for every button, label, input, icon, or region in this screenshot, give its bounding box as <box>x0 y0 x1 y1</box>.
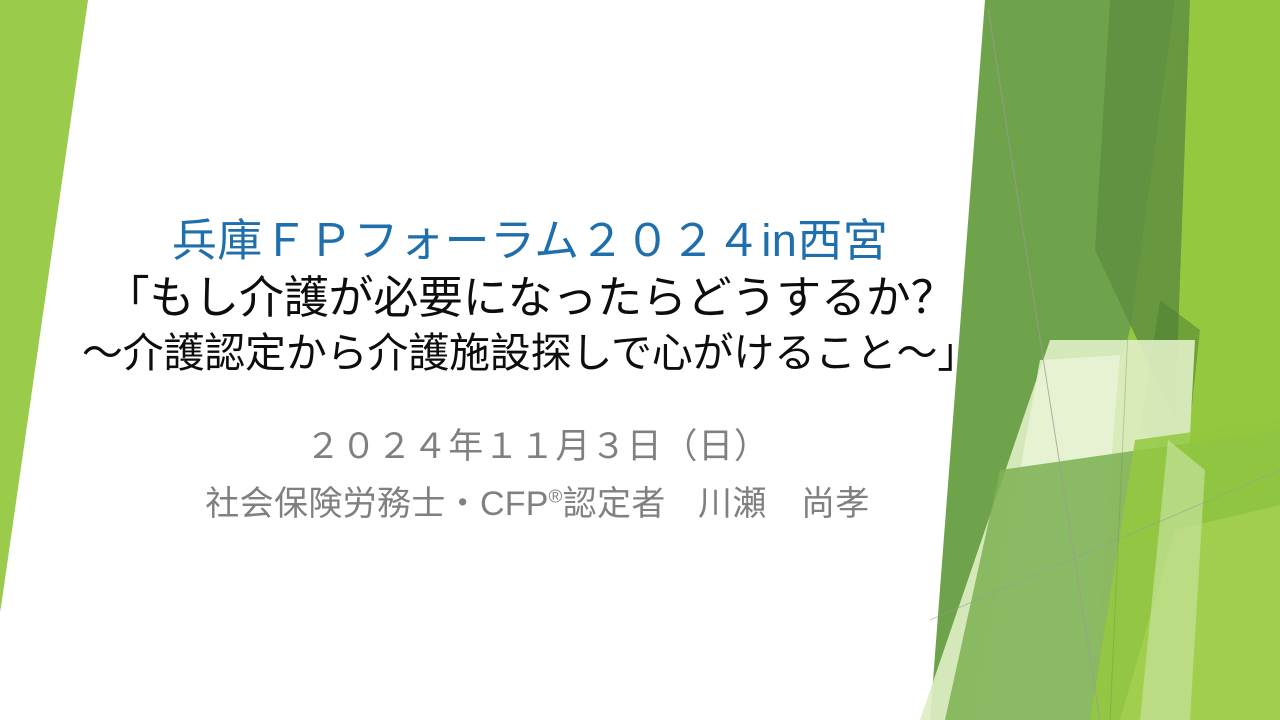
presentation-slide: 兵庫ＦＰフォーラム２０２４in西宮 「もし介護が必要になったらどうするか？ 〜介… <box>0 0 1280 720</box>
title-line-1: 兵庫ＦＰフォーラム２０２４in西宮 <box>0 212 1060 270</box>
slide-subtitle: ２０２４年１１月３日（日） 社会保険労務士・CFP®認定者川瀬 尚孝 <box>0 418 1075 532</box>
slide-title: 兵庫ＦＰフォーラム２０２４in西宮 「もし介護が必要になったらどうするか？ 〜介… <box>0 212 1060 380</box>
title-line-3: 〜介護認定から介護施設探しで心がけること〜」 <box>0 326 1060 380</box>
slide-content: 兵庫ＦＰフォーラム２０２４in西宮 「もし介護が必要になったらどうするか？ 〜介… <box>0 0 1280 720</box>
presenter-name: 川瀬 尚孝 <box>698 485 870 523</box>
presenter-qualification-suffix: 認定者 <box>563 485 666 523</box>
title-line-2: 「もし介護が必要になったらどうするか？ <box>0 270 1060 326</box>
cfp-mark-text: CFP <box>480 485 549 523</box>
event-date: ２０２４年１１月３日（日） <box>0 418 1075 476</box>
presenter-qualification-prefix: 社会保険労務士・ <box>205 485 480 523</box>
presenter-credit: 社会保険労務士・CFP®認定者川瀬 尚孝 <box>0 476 1075 532</box>
registered-trademark-icon: ® <box>549 486 563 507</box>
